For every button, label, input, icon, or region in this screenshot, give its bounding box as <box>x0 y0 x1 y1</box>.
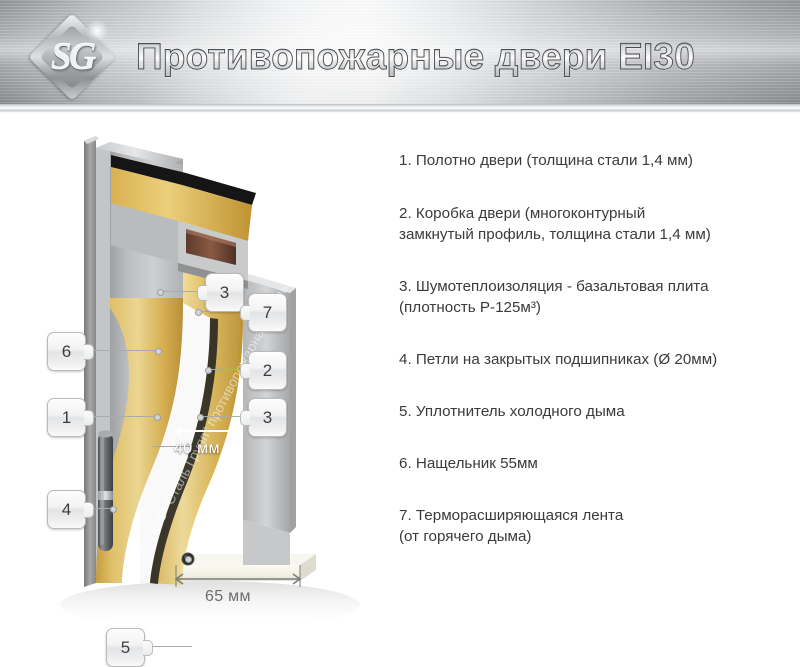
callout-7[interactable]: 7 <box>248 293 287 332</box>
leader-dot-1 <box>154 414 161 421</box>
door-hinge <box>98 431 113 552</box>
spec-item-2: 2. Коробка двери (многоконтурный замкнут… <box>399 203 789 245</box>
leader-dot-7 <box>195 309 202 316</box>
spec-item-7: 7. Терморасширяющаяся лента (от горячего… <box>399 505 789 547</box>
spec-item-3: 3. Шумотеплоизоляция - базальтовая плита… <box>399 276 789 318</box>
leader-dot-2 <box>205 367 212 374</box>
leader-line-1 <box>93 416 156 417</box>
spec-item-5: 5. Уплотнитель холодного дыма <box>399 401 789 422</box>
fire-door-cutaway-diagram: 3 7 6 2 1 3 4 5 40 мм 65 мм © ООО "Сталь… <box>0 113 399 637</box>
leader-dot-5 <box>185 556 192 563</box>
callout-5[interactable]: 5 <box>106 628 145 667</box>
dimension-label-40mm: 40 мм <box>174 440 220 458</box>
header-underline <box>0 104 800 113</box>
leader-line-6 <box>93 350 157 351</box>
steel-group-diamond-logo: SG <box>24 9 120 104</box>
callout-2[interactable]: 2 <box>248 351 287 390</box>
leader-dot-4 <box>110 506 117 513</box>
callout-3-top[interactable]: 3 <box>205 273 244 312</box>
lower-frame-wool <box>196 513 290 563</box>
leader-line-5b <box>152 646 192 647</box>
spec-item-1: 1. Полотно двери (толщина стали 1,4 мм) <box>399 150 789 171</box>
callout-6[interactable]: 6 <box>47 332 86 371</box>
callout-3-panel[interactable]: 3 <box>248 398 287 437</box>
logo-sparkle-icon <box>84 18 110 44</box>
callout-4[interactable]: 4 <box>47 490 86 529</box>
leader-dot-3-top <box>157 289 164 296</box>
spec-item-4: 4. Петли на закрытых подшипниках (Ø 20мм… <box>399 349 789 370</box>
spec-item-6: 6. Нащельник 55мм <box>399 453 789 474</box>
leader-dot-3-panel <box>197 414 204 421</box>
callout-1[interactable]: 1 <box>47 398 86 437</box>
page-title: Противопожарные двери EI30 <box>136 31 736 83</box>
dimension-label-65mm: 65 мм <box>205 588 251 606</box>
door-cross-section-illustration <box>0 113 399 637</box>
header-bar: SG Противопожарные двери EI30 <box>0 0 800 104</box>
leader-dot-6 <box>155 348 162 355</box>
